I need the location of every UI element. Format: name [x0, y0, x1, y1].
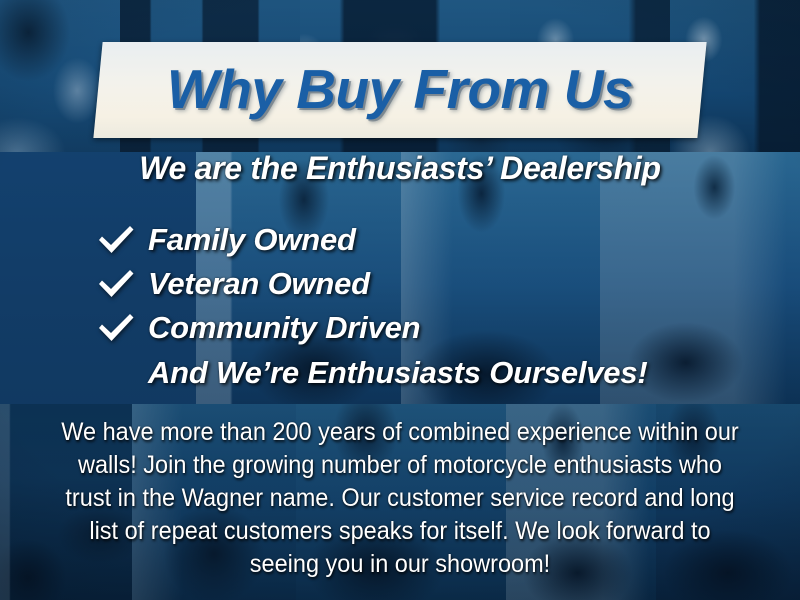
title-banner-inner: Why Buy From Us — [98, 42, 702, 138]
subtitle-text: We are the Enthusiasts’ Dealership — [0, 150, 800, 187]
checkmark-icon — [96, 268, 148, 300]
title-banner: Why Buy From Us — [93, 42, 706, 138]
list-item: Veteran Owned — [96, 262, 736, 306]
list-item: Community Driven — [96, 306, 736, 350]
list-tail-line: And We’re Enthusiasts Ourselves! — [96, 350, 736, 396]
list-item: Family Owned — [96, 218, 736, 262]
list-tail-label: And We’re Enthusiasts Ourselves! — [148, 355, 648, 391]
page-title: Why Buy From Us — [167, 57, 633, 121]
list-item-label: Community Driven — [148, 310, 420, 346]
checkmark-icon — [96, 224, 148, 256]
why-buy-from-us-banner: Why Buy From Us We are the Enthusiasts’ … — [0, 0, 800, 600]
checkmark-icon — [96, 312, 148, 344]
description-paragraph: We have more than 200 years of combined … — [52, 416, 748, 581]
benefits-list: Family Owned Veteran Owned Community Dri… — [96, 218, 736, 396]
list-item-label: Family Owned — [148, 222, 356, 258]
list-item-label: Veteran Owned — [148, 266, 370, 302]
